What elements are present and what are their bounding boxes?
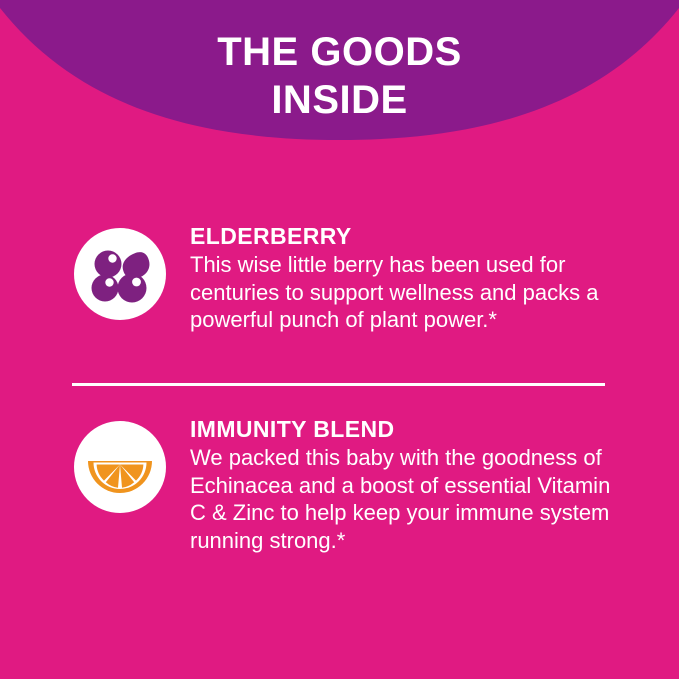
immunity-heading: IMMUNITY BLEND <box>190 415 622 443</box>
section-divider <box>72 383 605 386</box>
elderberry-body: This wise little berry has been used for… <box>190 250 622 334</box>
elderberry-icon-badge <box>74 228 166 320</box>
immunity-text-block: IMMUNITY BLEND We packed this baby with … <box>190 415 622 554</box>
header-banner: THE GOODS INSIDE <box>0 0 679 160</box>
product-benefits-panel: THE GOODS INSIDE ELDERBERRY This wise li… <box>0 0 679 679</box>
elderberry-icon <box>74 228 166 320</box>
page-title: THE GOODS INSIDE <box>0 28 679 124</box>
orange-slice-icon <box>74 421 166 513</box>
immunity-body: We packed this baby with the goodness of… <box>190 443 622 554</box>
elderberry-text-block: ELDERBERRY This wise little berry has be… <box>190 222 622 334</box>
elderberry-heading: ELDERBERRY <box>190 222 622 250</box>
orange-slice-icon-badge <box>74 421 166 513</box>
